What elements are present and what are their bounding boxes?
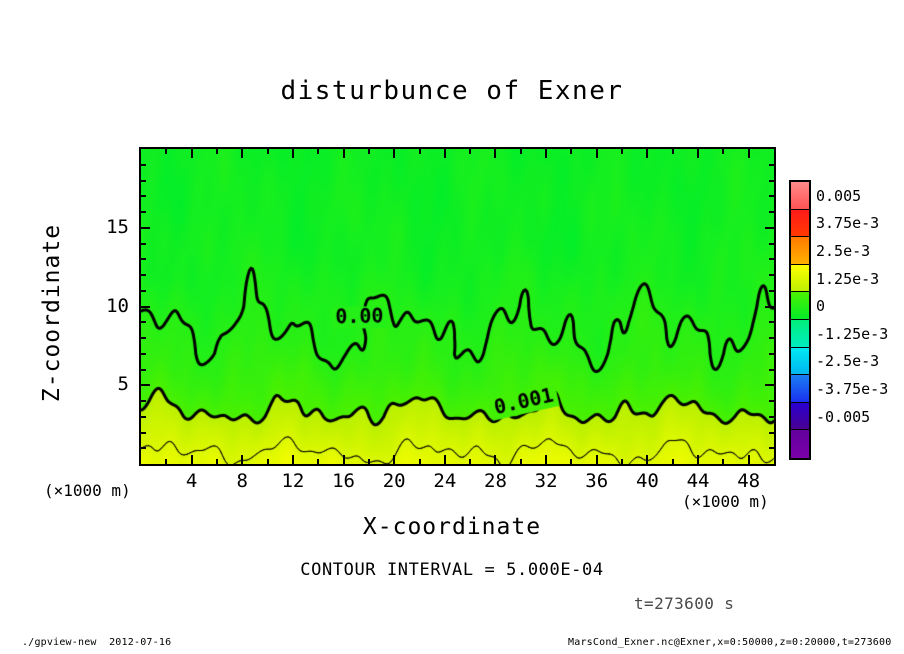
page-title: disturbunce of Exner [0,76,904,106]
y-axis-minor-tick [769,180,774,182]
x-axis-tick [444,149,446,158]
x-axis-tick [596,455,598,464]
x-axis-tick [241,149,243,158]
colorbar-tick-label: 1.25e-3 [816,270,879,288]
y-axis-minor-tick [141,321,146,323]
x-axis-minor-tick [368,459,370,464]
x-axis-minor-tick [722,149,724,154]
x-axis-tick [646,455,648,464]
colorbar-band [791,430,809,458]
x-axis-tick [748,149,750,158]
y-axis-minor-tick [769,274,774,276]
y-axis-minor-tick [141,369,146,371]
colorbar-tick-label: 0 [816,297,825,315]
y-axis-minor-tick [769,432,774,434]
x-axis-tick [343,149,345,158]
colorbar-tick-label: -0.005 [816,408,870,426]
x-axis-minor-tick [672,149,674,154]
y-axis-minor-tick [769,211,774,213]
colorbar-band [791,210,809,238]
y-axis-minor-tick [769,243,774,245]
colorbar[interactable] [789,180,811,460]
x-axis-minor-tick [368,149,370,154]
y-axis-minor-tick [769,353,774,355]
x-axis-tick [697,149,699,158]
y-axis-tick [765,306,774,308]
x-axis-minor-tick [722,459,724,464]
y-axis-minor-tick [769,258,774,260]
y-axis-minor-tick [141,447,146,449]
colorbar-band [791,320,809,348]
y-axis-minor-tick [769,416,774,418]
y-axis-minor-tick [141,290,146,292]
y-axis-minor-tick [141,164,146,166]
y-axis-minor-tick [141,400,146,402]
x-axis-tick [343,455,345,464]
colorbar-band [791,375,809,403]
y-axis-minor-tick [769,337,774,339]
x-axis-minor-tick [267,149,269,154]
x-axis-tick [494,149,496,158]
x-axis-tick [545,149,547,158]
colorbar-tick-label: -3.75e-3 [816,380,888,398]
y-axis-minor-tick [141,337,146,339]
colorbar-band [791,403,809,431]
x-axis-minor-tick [165,149,167,154]
x-axis-minor-tick [570,459,572,464]
colorbar-band [791,237,809,265]
x-axis-minor-tick [570,149,572,154]
y-axis-minor-tick [141,258,146,260]
time-stamp-label: t=273600 s [634,594,734,613]
x-axis-minor-tick [621,149,623,154]
x-axis-minor-tick [419,149,421,154]
x-axis-minor-tick [520,149,522,154]
x-axis-minor-tick [165,459,167,464]
x-axis-tick [393,455,395,464]
y-axis-minor-tick [141,432,146,434]
y-axis-minor-tick [141,180,146,182]
x-axis-tick [596,149,598,158]
y-axis-tick-label: 15 [89,216,129,238]
y-axis-minor-tick [141,416,146,418]
y-axis-minor-tick [769,400,774,402]
contour-field-canvas [141,149,774,464]
x-axis-minor-tick [317,149,319,154]
x-axis-title: X-coordinate [0,514,904,540]
colorbar-tick-label: 2.5e-3 [816,242,870,260]
x-axis-tick [545,455,547,464]
x-axis-tick [292,149,294,158]
y-axis-tick-label: 10 [89,295,129,317]
y-axis-minor-tick [769,321,774,323]
x-axis-tick [444,455,446,464]
colorbar-band [791,182,809,210]
colorbar-band [791,292,809,320]
x-axis-unit-right: (×1000 m) [682,492,769,511]
x-axis-tick [697,455,699,464]
x-axis-tick-label: 48 [719,470,779,492]
colorbar-tick-label: 3.75e-3 [816,214,879,232]
x-axis-tick [748,455,750,464]
y-axis-minor-tick [769,164,774,166]
x-axis-tick [191,149,193,158]
contour-interval-label: CONTOUR INTERVAL = 5.000E-04 [0,560,904,580]
colorbar-tick-label: -1.25e-3 [816,325,888,343]
y-axis-minor-tick [769,195,774,197]
x-axis-tick [241,455,243,464]
colorbar-tick-label: 0.005 [816,187,861,205]
x-axis-tick [393,149,395,158]
x-axis-minor-tick [520,459,522,464]
y-axis-minor-tick [769,290,774,292]
colorbar-band [791,265,809,293]
y-axis-minor-tick [141,211,146,213]
x-axis-tick [646,149,648,158]
x-axis-minor-tick [469,149,471,154]
y-axis-minor-tick [141,243,146,245]
x-axis-minor-tick [317,459,319,464]
x-axis-minor-tick [469,459,471,464]
footer-source-label: MarsCond_Exner.nc@Exner,x=0:50000,z=0:20… [568,637,891,648]
y-axis-minor-tick [141,353,146,355]
colorbar-tick-label: -2.5e-3 [816,352,879,370]
footer-command-label: ./gpview-new 2012-07-16 [22,637,171,648]
x-axis-tick [191,455,193,464]
y-axis-tick [765,227,774,229]
y-axis-tick [141,227,150,229]
contour-plot-area[interactable] [139,147,776,466]
x-axis-unit-left: (×1000 m) [44,481,131,500]
y-axis-tick [141,306,150,308]
y-axis-minor-tick [769,447,774,449]
x-axis-minor-tick [216,459,218,464]
x-axis-minor-tick [621,459,623,464]
x-axis-minor-tick [419,459,421,464]
y-axis-tick [141,384,150,386]
x-axis-minor-tick [672,459,674,464]
x-axis-tick [292,455,294,464]
x-axis-tick [494,455,496,464]
y-axis-minor-tick [769,369,774,371]
y-axis-title: Z-coordinate [39,203,65,423]
y-axis-tick [765,384,774,386]
colorbar-band [791,348,809,376]
y-axis-minor-tick [141,195,146,197]
y-axis-tick-label: 5 [89,373,129,395]
x-axis-minor-tick [267,459,269,464]
y-axis-minor-tick [141,274,146,276]
x-axis-minor-tick [216,149,218,154]
